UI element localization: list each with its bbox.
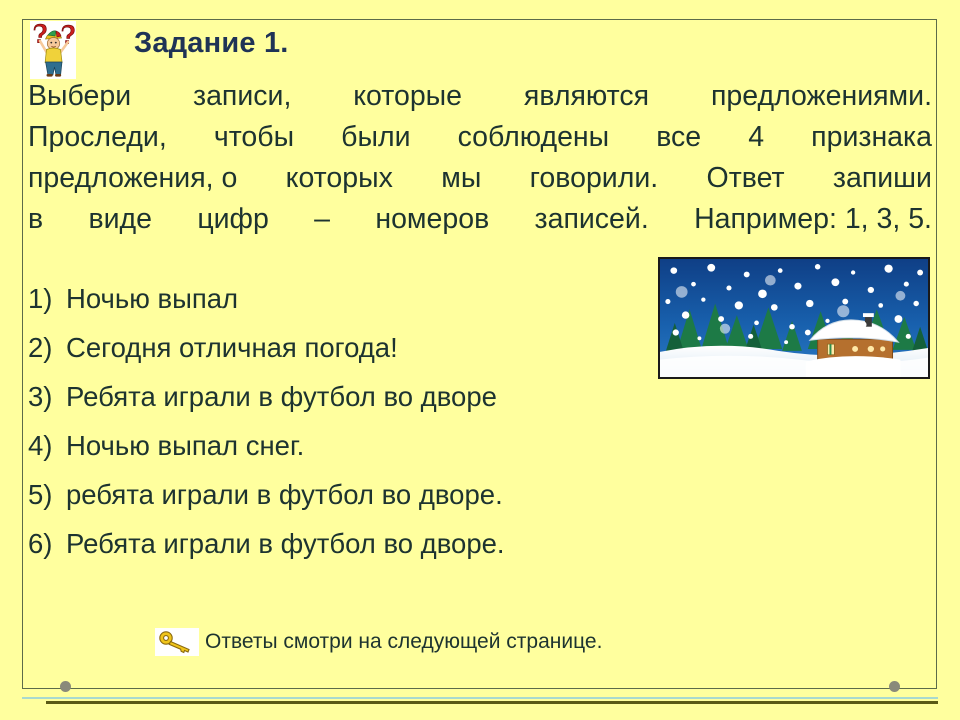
word: мы bbox=[441, 158, 481, 199]
bottom-rule-light bbox=[22, 697, 938, 699]
word: номеров bbox=[375, 199, 489, 240]
page-pin-right bbox=[889, 681, 900, 692]
word: записей. bbox=[535, 199, 649, 240]
list-item-text: Ночью выпал bbox=[66, 283, 238, 315]
word: чтобы bbox=[214, 117, 294, 158]
task-instructions: Выбери записи, которые являются предложе… bbox=[28, 76, 934, 240]
slide-header: Задание 1. bbox=[22, 19, 937, 75]
word: которые bbox=[353, 76, 462, 117]
answers-hint-text: Ответы смотри на следующей странице. bbox=[205, 630, 602, 654]
list-item-number: 1) bbox=[28, 283, 66, 315]
word: являются bbox=[524, 76, 649, 117]
word: говорили. bbox=[530, 158, 659, 199]
word: в bbox=[28, 199, 43, 240]
list-item[interactable]: 3) Ребята играли в футбол во дворе bbox=[28, 381, 688, 430]
word: цифр bbox=[197, 199, 269, 240]
instructions-line-2: Проследи, чтобы были соблюдены все 4 при… bbox=[28, 117, 932, 158]
list-item-text: Ребята играли в футбол во дворе bbox=[66, 381, 497, 413]
list-item[interactable]: 4) Ночью выпал снег. bbox=[28, 430, 688, 479]
instructions-line-1: Выбери записи, которые являются предложе… bbox=[28, 76, 932, 117]
instructions-line-3: предложения, о которых мы говорили. Отве… bbox=[28, 158, 932, 199]
bottom-rule-dark bbox=[46, 701, 938, 704]
answers-hint: Ответы смотри на следующей странице. bbox=[155, 628, 602, 656]
word: – bbox=[314, 199, 330, 240]
list-item-text: Сегодня отличная погода! bbox=[66, 332, 398, 364]
gold-key-icon bbox=[155, 628, 199, 656]
word: предложениями. bbox=[711, 76, 932, 117]
word: Проследи, bbox=[28, 117, 167, 158]
word: 4 bbox=[748, 117, 764, 158]
list-item[interactable]: 5) ребята играли в футбол во дворе. bbox=[28, 479, 688, 528]
list-item-number: 6) bbox=[28, 528, 66, 560]
slide-canvas: Задание 1. Выбери записи, которые являют… bbox=[0, 0, 960, 720]
instructions-line-4: в виде цифр – номеров записей. Например:… bbox=[28, 199, 932, 240]
word: были bbox=[341, 117, 410, 158]
sentence-options-list: 1) Ночью выпал 2) Сегодня отличная погод… bbox=[28, 283, 688, 577]
page-title: Задание 1. bbox=[134, 27, 289, 60]
list-item[interactable]: 6) Ребята играли в футбол во дворе. bbox=[28, 528, 688, 577]
list-item-number: 2) bbox=[28, 332, 66, 364]
word: соблюдены bbox=[458, 117, 610, 158]
list-item-number: 4) bbox=[28, 430, 66, 462]
list-item[interactable]: 1) Ночью выпал bbox=[28, 283, 688, 332]
word: все bbox=[656, 117, 701, 158]
word: Ответ bbox=[707, 158, 785, 199]
word: Например: 1, 3, 5. bbox=[694, 199, 932, 240]
word: записи, bbox=[193, 76, 291, 117]
page-pin-left bbox=[60, 681, 71, 692]
list-item-text: Ребята играли в футбол во дворе. bbox=[66, 528, 505, 560]
list-item-number: 5) bbox=[28, 479, 66, 511]
list-item-number: 3) bbox=[28, 381, 66, 413]
list-item[interactable]: 2) Сегодня отличная погода! bbox=[28, 332, 688, 381]
word: Выбери bbox=[28, 76, 131, 117]
word: предложения, о bbox=[28, 158, 237, 199]
word: запиши bbox=[833, 158, 932, 199]
winter-night-snow-house-illustration bbox=[658, 257, 930, 379]
list-item-text: Ночью выпал снег. bbox=[66, 430, 304, 462]
word: виде bbox=[88, 199, 152, 240]
word: которых bbox=[286, 158, 393, 199]
list-item-text: ребята играли в футбол во дворе. bbox=[66, 479, 503, 511]
boy-with-question-marks-icon bbox=[30, 21, 76, 79]
word: признака bbox=[811, 117, 932, 158]
